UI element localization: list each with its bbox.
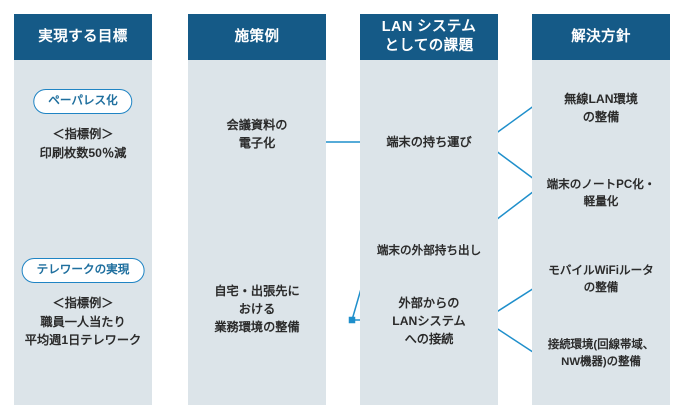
column-header-issues-line2: としての課題 bbox=[385, 37, 474, 56]
column-header-issues-line1: LAN システム bbox=[382, 18, 477, 37]
issue-item-2[interactable]: 端末の外部持ち出し bbox=[360, 242, 498, 259]
measure-item-1[interactable]: 会議資料の 電子化 bbox=[188, 116, 326, 152]
solution-item-4[interactable]: 接続環境(回線帯域、 NW機器)の整備 bbox=[532, 337, 670, 371]
connector-dot bbox=[350, 318, 355, 323]
goal-metric-label-telework: ＜指標例＞ bbox=[14, 294, 152, 312]
column-body-measures bbox=[188, 60, 326, 405]
diagram-canvas: 実現する目標 ペーパレス化 ＜指標例＞ 印刷枚数50％減 テレワークの実現 ＜指… bbox=[0, 0, 683, 420]
issue-item-1[interactable]: 端末の持ち運び bbox=[360, 133, 498, 151]
column-body-issues bbox=[360, 60, 498, 405]
measure-item-2[interactable]: 自宅・出張先に おける 業務環境の整備 bbox=[188, 282, 326, 336]
goal-metric-value-paperless: 印刷枚数50％減 bbox=[14, 144, 152, 162]
solution-item-3[interactable]: モバイルWiFiルータ の整備 bbox=[532, 262, 670, 296]
column-header-goals: 実現する目標 bbox=[14, 14, 152, 60]
issue-item-3[interactable]: 外部からの LANシステム への接続 bbox=[360, 294, 498, 348]
solution-item-2[interactable]: 端末のノートPC化・ 軽量化 bbox=[532, 176, 670, 210]
column-header-measures: 施策例 bbox=[188, 14, 326, 60]
solution-item-1[interactable]: 無線LAN環境 の整備 bbox=[532, 90, 670, 126]
column-header-issues: LAN システム としての課題 bbox=[360, 14, 498, 60]
column-header-solutions: 解決方針 bbox=[532, 14, 670, 60]
goal-pill-telework[interactable]: テレワークの実現 bbox=[22, 258, 145, 283]
goal-metric-value-telework: 職員一人当たり 平均週1日テレワーク bbox=[14, 313, 152, 350]
goal-metric-label-paperless: ＜指標例＞ bbox=[14, 125, 152, 143]
goal-pill-paperless[interactable]: ペーパレス化 bbox=[33, 89, 132, 114]
